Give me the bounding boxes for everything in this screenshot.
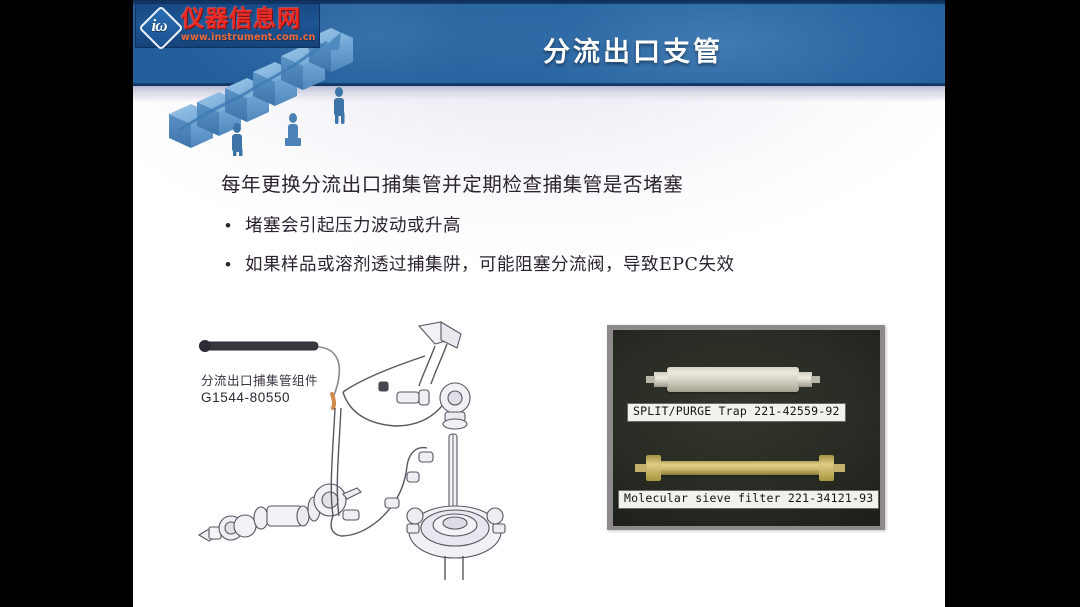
logo-text-block: 仪器信息网 www.instrument.com.cn <box>181 8 316 43</box>
bullet-marker-icon: • <box>225 256 245 273</box>
hardware-photo: SPLIT/PURGE Trap 221-42559-92 Molecular … <box>613 330 880 526</box>
photo-label-trap: SPLIT/PURGE Trap 221-42559-92 <box>627 403 846 422</box>
drawing-caption: 分流出口捕集管组件 G1544-80550 <box>201 373 318 406</box>
drawing-part-number: G1544-80550 <box>201 389 318 406</box>
header-underglow <box>133 86 945 102</box>
sieve-fitting-left <box>635 464 647 472</box>
video-player-stage: iω 仪器信息网 www.instrument.com.cn 分流出口支管 每年… <box>0 0 1080 607</box>
split-purge-trap-part-image <box>667 367 799 392</box>
bullet-item: • 堵塞会引起压力波动或升高 <box>225 212 461 237</box>
logo-url: www.instrument.com.cn <box>181 33 316 43</box>
trap-cap-left <box>654 372 668 387</box>
drawing-caption-chinese: 分流出口捕集管组件 <box>201 373 318 389</box>
sieve-fitting-right <box>833 464 845 472</box>
sieve-hex-left <box>646 455 661 481</box>
trap-cap-right <box>798 372 812 387</box>
molecular-sieve-filter-part-image <box>655 461 825 475</box>
logo-mark-glyph: iω <box>140 7 178 45</box>
sieve-hex-right <box>819 455 834 481</box>
lead-paragraph: 每年更换分流出口捕集管并定期检查捕集管是否堵塞 <box>221 168 683 197</box>
bullet-marker-icon: • <box>225 217 245 234</box>
letterbox-left <box>0 0 133 607</box>
bullet-text: 如果样品或溶剂透过捕集阱，可能阻塞分流阀，导致EPC失效 <box>245 251 734 276</box>
bullet-text: 堵塞会引起压力波动或升高 <box>245 212 461 237</box>
letterbox-right <box>945 0 1080 607</box>
logo-name: 仪器信息网 <box>181 8 316 31</box>
presentation-slide: iω 仪器信息网 www.instrument.com.cn 分流出口支管 每年… <box>133 0 945 607</box>
site-logo[interactable]: iω 仪器信息网 www.instrument.com.cn <box>135 3 320 48</box>
photo-label-sieve: Molecular sieve filter 221-34121-93 <box>618 490 879 509</box>
trap-fitting-left <box>646 376 655 383</box>
bullet-item: • 如果样品或溶剂透过捕集阱，可能阻塞分流阀，导致EPC失效 <box>225 251 734 276</box>
hardware-photo-panel: SPLIT/PURGE Trap 221-42559-92 Molecular … <box>607 325 885 530</box>
slide-title: 分流出口支管 <box>333 30 933 69</box>
trap-fitting-right <box>811 376 820 383</box>
exploded-assembly-diagram-icon <box>183 320 533 580</box>
diamond-logo-icon: iω <box>140 7 178 45</box>
